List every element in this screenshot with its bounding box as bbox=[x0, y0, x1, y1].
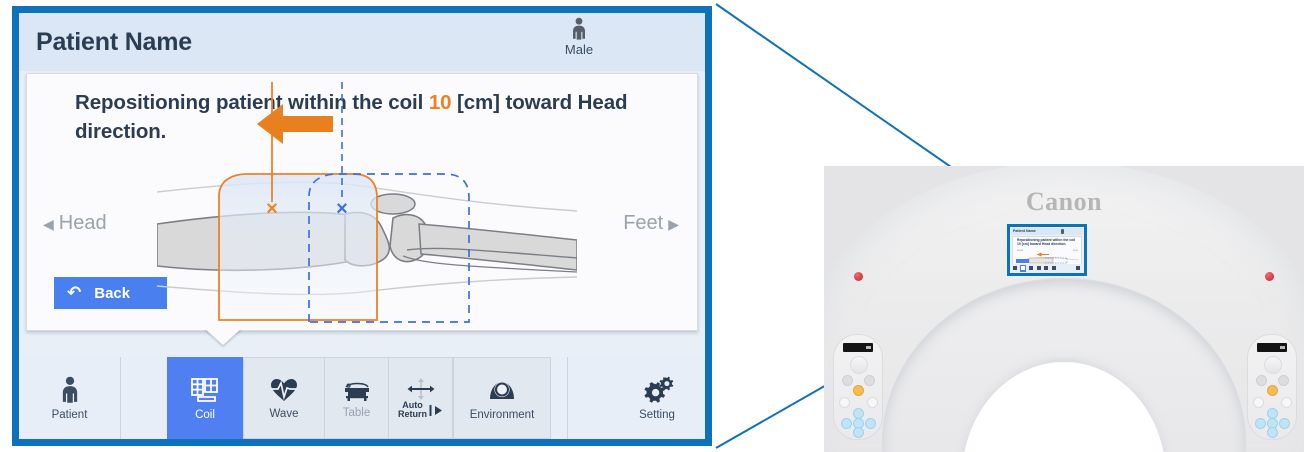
target-position-marker: × bbox=[336, 198, 348, 220]
four-arrows-icon bbox=[406, 377, 436, 401]
coil-position-diagram: × × bbox=[157, 74, 577, 354]
pod-button-right-back[interactable] bbox=[1255, 418, 1266, 429]
console-screen: Patient Name Male Repositioning patient … bbox=[19, 13, 705, 439]
return-home-icon bbox=[429, 404, 443, 417]
gender-label: Male bbox=[565, 42, 593, 57]
toolbar-item-coil[interactable]: Coil bbox=[167, 357, 243, 439]
back-arrow-icon: ↶ bbox=[67, 283, 81, 303]
console-screen-frame: Patient Name Male Repositioning patient … bbox=[12, 6, 712, 446]
inset-header: Patient Name bbox=[1011, 228, 1083, 235]
auto-return-label-row: Auto Return bbox=[398, 401, 443, 420]
brand-logo: Canon bbox=[824, 187, 1304, 217]
pod-button-left-down[interactable] bbox=[853, 427, 864, 438]
control-pod-left[interactable] bbox=[833, 334, 883, 440]
inset-toolbar-item-patient[interactable] bbox=[1012, 265, 1019, 272]
heart-wave-icon bbox=[269, 377, 299, 405]
pod-button-left-2[interactable] bbox=[864, 375, 875, 386]
pod-button-right-4[interactable] bbox=[1281, 397, 1292, 408]
inset-title: Patient Name bbox=[1013, 229, 1036, 233]
table-bed-icon bbox=[343, 378, 371, 404]
mri-scanner-photo: Canon Patient Name Repositioning patient… bbox=[824, 166, 1304, 452]
pod-button-left-amber[interactable] bbox=[853, 385, 864, 396]
toolbar-spacer bbox=[121, 357, 167, 439]
inset-toolbar bbox=[1012, 264, 1082, 272]
toolbar-item-patient[interactable]: Patient bbox=[19, 357, 121, 439]
pod-knob-left[interactable] bbox=[850, 356, 868, 374]
pod-button-right-fwd[interactable] bbox=[1279, 418, 1290, 429]
chevron-right-icon: ▶ bbox=[668, 217, 679, 231]
camera-dome-icon bbox=[486, 376, 518, 406]
toolbar-label-setting: Setting bbox=[639, 409, 675, 421]
pod-button-right-down[interactable] bbox=[1267, 427, 1278, 438]
back-button-label: Back bbox=[94, 285, 130, 302]
pod-button-left-back[interactable] bbox=[841, 418, 852, 429]
pod-button-left-3[interactable] bbox=[839, 397, 850, 408]
toolbar-label-environment: Environment bbox=[470, 409, 535, 421]
inset-toolbar-item-setting[interactable] bbox=[1074, 265, 1081, 272]
toolbar-label-wave: Wave bbox=[270, 408, 299, 420]
feet-direction-label[interactable]: Feet ▶ bbox=[623, 212, 679, 235]
feet-label-text: Feet bbox=[623, 212, 663, 235]
inset-toolbar-item-wave[interactable] bbox=[1027, 265, 1034, 272]
back-button[interactable]: ↶ Back bbox=[54, 277, 167, 309]
toolbar-item-auto-return[interactable]: Auto Return bbox=[388, 358, 452, 438]
inset-toolbar-item-table[interactable] bbox=[1035, 265, 1042, 272]
content-area: Repositioning patient within the coil 10… bbox=[19, 71, 705, 357]
move-direction-arrow bbox=[257, 104, 333, 144]
gantry-inset-console[interactable]: Patient Name Repositioning patient withi… bbox=[1007, 224, 1087, 276]
emergency-stop-right[interactable] bbox=[1265, 272, 1274, 281]
toolbar-item-table[interactable]: Table bbox=[324, 358, 388, 438]
control-pod-right[interactable] bbox=[1247, 334, 1297, 440]
inset-instruction: Repositioning patient within the coil 10… bbox=[1017, 238, 1078, 247]
inset-diagram bbox=[1027, 252, 1079, 265]
toolbar-item-setting[interactable]: Setting bbox=[609, 357, 705, 439]
bottom-toolbar: Patient Coil bbox=[19, 357, 705, 439]
person-icon bbox=[568, 17, 590, 43]
toolbar-label-coil: Coil bbox=[195, 409, 215, 421]
page-title: Patient Name bbox=[36, 28, 192, 57]
emergency-stop-left[interactable] bbox=[854, 272, 863, 281]
toolbar-item-wave[interactable]: Wave bbox=[244, 358, 324, 438]
head-direction-label[interactable]: ◀ Head bbox=[43, 212, 107, 235]
coil-grid-icon bbox=[189, 376, 221, 406]
auto-return-label: Auto Return bbox=[398, 401, 427, 420]
pod-button-right-1[interactable] bbox=[1256, 375, 1267, 386]
inset-back-button[interactable] bbox=[1016, 259, 1029, 263]
pod-knob-right[interactable] bbox=[1264, 356, 1282, 374]
pod-button-right-2[interactable] bbox=[1278, 375, 1289, 386]
pod-button-left-1[interactable] bbox=[842, 375, 853, 386]
pod-button-right-amber[interactable] bbox=[1267, 385, 1278, 396]
current-position-marker: × bbox=[266, 198, 278, 220]
pod-button-right-3[interactable] bbox=[1253, 397, 1264, 408]
pod-display-right bbox=[1257, 343, 1287, 352]
person-icon bbox=[1061, 229, 1064, 234]
toolbar-label-table: Table bbox=[343, 407, 371, 419]
auto-return-line2: Return bbox=[398, 410, 427, 419]
inset-card: Repositioning patient within the coil 10… bbox=[1012, 236, 1082, 266]
gears-icon bbox=[640, 376, 674, 406]
toolbar-group: Wave Table bbox=[243, 357, 453, 439]
instruction-card: Repositioning patient within the coil 10… bbox=[26, 73, 698, 331]
inset-head-label: Head bbox=[1017, 249, 1023, 252]
toolbar-label-patient: Patient bbox=[52, 409, 88, 421]
chevron-left-icon: ◀ bbox=[43, 217, 54, 231]
patient-gender: Male bbox=[539, 17, 619, 57]
inset-toolbar-item-auto-return[interactable] bbox=[1043, 265, 1050, 272]
inset-toolbar-item-environment[interactable] bbox=[1051, 265, 1058, 272]
pod-display-left bbox=[843, 343, 873, 352]
pod-button-left-4[interactable] bbox=[867, 397, 878, 408]
pod-button-left-fwd[interactable] bbox=[865, 418, 876, 429]
inset-toolbar-item-coil[interactable] bbox=[1020, 265, 1027, 272]
callout-tail bbox=[204, 328, 242, 345]
toolbar-item-environment[interactable]: Environment bbox=[453, 357, 551, 439]
head-label-text: Head bbox=[59, 212, 107, 235]
header-bar: Patient Name Male bbox=[19, 13, 705, 71]
person-icon bbox=[57, 376, 83, 406]
current-coil-outline bbox=[219, 174, 377, 320]
toolbar-spacer-right bbox=[567, 357, 609, 439]
